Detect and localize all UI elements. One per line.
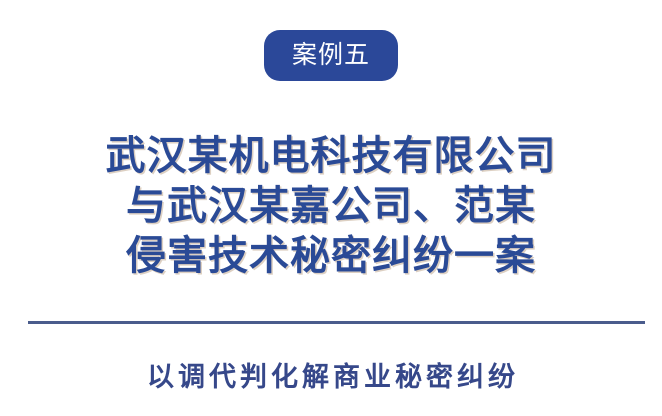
- horizontal-divider: [28, 321, 645, 324]
- case-subtitle: 以调代判化解商业秘密纠纷: [143, 360, 519, 394]
- title-line-3: 侵害技术秘密纠纷一案: [0, 231, 662, 281]
- case-number-badge: 案例五: [264, 30, 398, 81]
- page-title: 武汉某机电科技有限公司 与武汉某嘉公司、范某 侵害技术秘密纠纷一案: [0, 131, 662, 281]
- title-line-2: 与武汉某嘉公司、范某: [0, 181, 662, 231]
- badge-row: 案例五: [0, 30, 662, 81]
- subtitle-row: 以调代判化解商业秘密纠纷: [0, 360, 662, 394]
- title-line-1: 武汉某机电科技有限公司: [0, 131, 662, 181]
- case-card: 案例五 武汉某机电科技有限公司 与武汉某嘉公司、范某 侵害技术秘密纠纷一案 以调…: [0, 0, 662, 416]
